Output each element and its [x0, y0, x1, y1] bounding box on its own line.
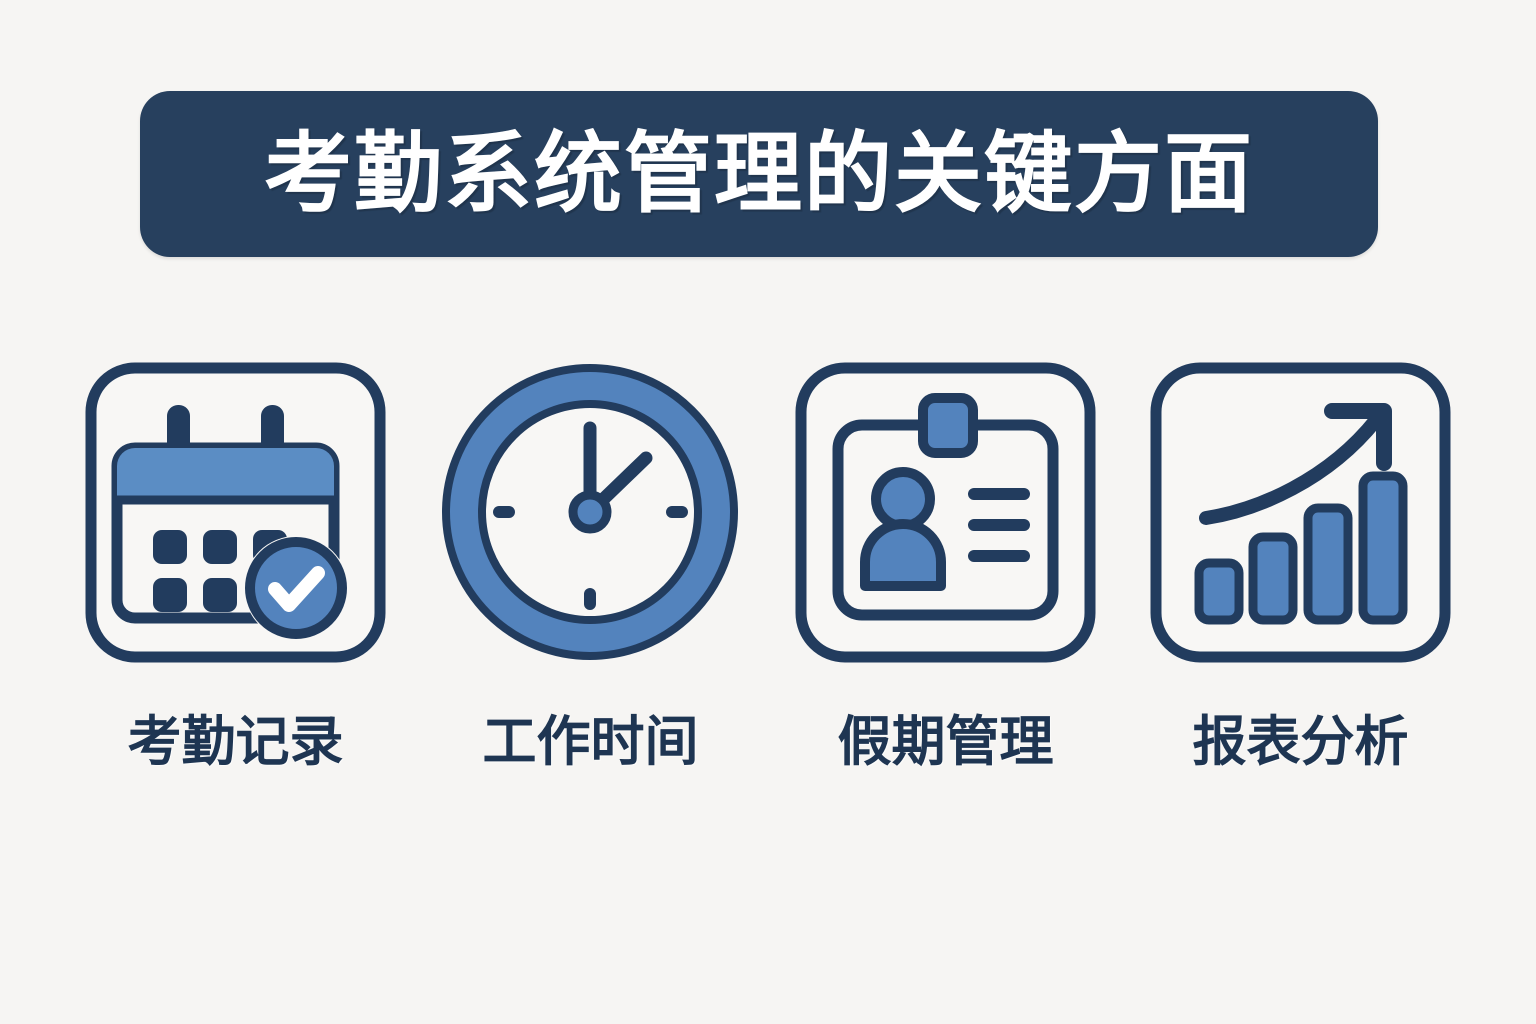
id-badge-icon — [793, 360, 1098, 665]
clock-icon — [438, 360, 743, 665]
feature-card-attendance-record[interactable]: 考勤记录 — [58, 360, 413, 769]
feature-card-label: 报表分析 — [1193, 715, 1409, 769]
feature-card-report-analytics[interactable]: 报表分析 — [1123, 360, 1478, 769]
feature-cards-row: 考勤记录 工作时间 — [0, 360, 1536, 800]
title-banner: 考勤系统管理的关键方面 — [140, 91, 1378, 257]
page-title: 考勤系统管理的关键方面 — [264, 130, 1254, 218]
feature-card-label: 考勤记录 — [128, 715, 344, 769]
feature-card-working-hours[interactable]: 工作时间 — [413, 360, 768, 769]
calendar-check-icon — [83, 360, 388, 665]
bar-chart-growth-icon — [1148, 360, 1453, 665]
feature-card-label: 假期管理 — [838, 715, 1054, 769]
feature-card-label: 工作时间 — [483, 715, 699, 769]
feature-card-leave-management[interactable]: 假期管理 — [768, 360, 1123, 769]
